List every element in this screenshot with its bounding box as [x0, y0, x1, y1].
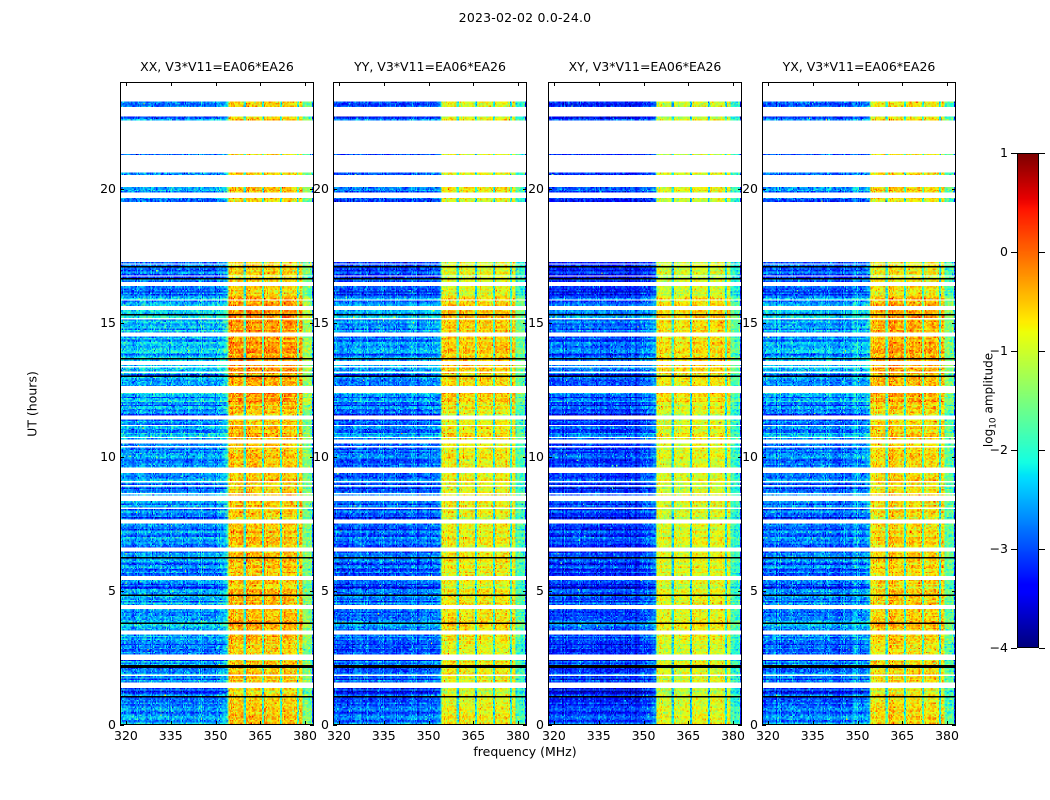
x-tick-mark-top: [947, 82, 948, 86]
y-tick-mark-right: [952, 457, 956, 458]
colorbar-tick-mark-right: [1039, 153, 1045, 154]
colorbar: [1017, 153, 1039, 648]
ylabel-host: UT (hours): [40, 0, 41, 1]
y-tick-label: 0: [82, 718, 116, 732]
x-tick-mark-top: [733, 82, 734, 86]
spectrum-image-yy: [334, 83, 526, 724]
x-tick-mark-top: [339, 82, 340, 86]
colorbar-label: log10 amplitude: [981, 353, 998, 447]
y-tick-label: 20: [724, 182, 758, 196]
y-tick-label: 10: [82, 450, 116, 464]
y-tick-mark-right: [952, 323, 956, 324]
y-tick-mark: [333, 725, 337, 726]
y-tick-mark: [333, 591, 337, 592]
x-tick-mark-top: [813, 82, 814, 86]
x-tick-mark-top: [126, 82, 127, 86]
x-tick-mark: [339, 721, 340, 725]
colorbar-tick-mark: [1011, 252, 1017, 253]
x-tick-label: 335: [793, 728, 833, 743]
x-tick-mark: [216, 721, 217, 725]
x-tick-label: 365: [453, 728, 493, 743]
y-tick-mark: [762, 591, 766, 592]
colorbar-tick-mark-right: [1039, 351, 1045, 352]
y-tick-label: 5: [724, 584, 758, 598]
x-tick-mark: [902, 721, 903, 725]
y-tick-label: 15: [510, 316, 544, 330]
y-tick-label: 15: [295, 316, 329, 330]
x-tick-mark: [473, 721, 474, 725]
x-tick-mark: [126, 721, 127, 725]
colorbar-tick-mark-right: [1039, 252, 1045, 253]
y-tick-mark: [120, 591, 124, 592]
y-tick-label: 5: [82, 584, 116, 598]
x-tick-mark: [768, 721, 769, 725]
x-tick-mark-top: [260, 82, 261, 86]
x-tick-mark: [947, 721, 948, 725]
y-tick-label: 15: [82, 316, 116, 330]
panel-title-xy: XY, V3*V11=EA06*EA26: [548, 59, 742, 77]
y-tick-mark-right: [952, 189, 956, 190]
colorbar-tick-mark: [1011, 450, 1017, 451]
colorbar-tick-mark-right: [1039, 549, 1045, 550]
x-tick-label: 335: [364, 728, 404, 743]
y-tick-mark: [548, 457, 552, 458]
x-tick-mark-top: [518, 82, 519, 86]
x-tick-mark: [644, 721, 645, 725]
y-tick-mark: [762, 189, 766, 190]
y-tick-mark: [120, 457, 124, 458]
y-tick-mark: [120, 725, 124, 726]
spectrum-panel-yx: [762, 82, 956, 725]
colorbar-label-sub: 10: [989, 417, 999, 428]
x-tick-mark: [813, 721, 814, 725]
x-axis-label: frequency (MHz): [0, 744, 1050, 759]
y-tick-mark: [762, 457, 766, 458]
y-tick-label: 20: [510, 182, 544, 196]
colorbar-tick-mark: [1011, 549, 1017, 550]
x-tick-mark: [429, 721, 430, 725]
x-tick-mark: [599, 721, 600, 725]
x-tick-label: 365: [882, 728, 922, 743]
spectrum-panel-yy: [333, 82, 527, 725]
x-tick-label: 335: [151, 728, 191, 743]
y-tick-label: 0: [295, 718, 329, 732]
y-tick-mark: [120, 323, 124, 324]
x-tick-mark: [171, 721, 172, 725]
y-tick-label: 0: [724, 718, 758, 732]
colorbar-tick-mark: [1011, 153, 1017, 154]
x-tick-mark-top: [305, 82, 306, 86]
figure-suptitle: 2023-02-02 0.0-24.0: [0, 10, 1050, 25]
y-tick-label: 20: [82, 182, 116, 196]
y-tick-label: 0: [510, 718, 544, 732]
y-tick-label: 15: [724, 316, 758, 330]
y-tick-label: 10: [510, 450, 544, 464]
colorbar-tick-mark: [1011, 351, 1017, 352]
y-tick-label: 20: [295, 182, 329, 196]
x-tick-mark-top: [768, 82, 769, 86]
x-tick-label: 350: [624, 728, 664, 743]
x-tick-mark: [554, 721, 555, 725]
x-tick-label: 365: [240, 728, 280, 743]
x-tick-label: 380: [927, 728, 967, 743]
y-tick-label: 5: [295, 584, 329, 598]
x-tick-mark: [858, 721, 859, 725]
x-tick-mark: [688, 721, 689, 725]
x-tick-label: 365: [668, 728, 708, 743]
colorbar-label-main: log: [981, 429, 995, 447]
x-tick-mark-top: [688, 82, 689, 86]
y-tick-mark: [120, 189, 124, 190]
y-tick-label: 10: [295, 450, 329, 464]
panel-title-xx: XX, V3*V11=EA06*EA26: [120, 59, 314, 77]
y-tick-mark: [548, 591, 552, 592]
y-tick-mark: [548, 323, 552, 324]
x-tick-mark-top: [429, 82, 430, 86]
y-tick-mark: [333, 457, 337, 458]
spectrum-panel-xy: [548, 82, 742, 725]
panel-title-yy: YY, V3*V11=EA06*EA26: [333, 59, 527, 77]
x-tick-mark: [260, 721, 261, 725]
x-tick-mark-top: [858, 82, 859, 86]
y-tick-mark: [548, 725, 552, 726]
colorbar-tick-label: −3: [978, 542, 1008, 556]
x-tick-mark-top: [171, 82, 172, 86]
y-tick-mark: [762, 323, 766, 324]
x-tick-mark-top: [902, 82, 903, 86]
x-tick-mark-top: [473, 82, 474, 86]
y-tick-mark: [333, 323, 337, 324]
colorbar-tick-mark-right: [1039, 450, 1045, 451]
y-tick-label: 5: [510, 584, 544, 598]
colorbar-tick-label: 1: [978, 146, 1008, 160]
y-tick-mark-right: [952, 725, 956, 726]
x-tick-label: 350: [838, 728, 878, 743]
spectrum-image-xy: [549, 83, 741, 724]
x-tick-mark: [384, 721, 385, 725]
panel-title-yx: YX, V3*V11=EA06*EA26: [762, 59, 956, 77]
x-tick-label: 350: [409, 728, 449, 743]
x-tick-label: 350: [196, 728, 236, 743]
colorbar-tick-label: −4: [978, 641, 1008, 655]
colorbar-tick-mark: [1011, 648, 1017, 649]
colorbar-tick-label: 0: [978, 245, 1008, 259]
spectrum-image-xx: [121, 83, 313, 724]
x-tick-mark-top: [644, 82, 645, 86]
y-tick-mark: [548, 189, 552, 190]
colorbar-tick-mark-right: [1039, 648, 1045, 649]
y-tick-label: 10: [724, 450, 758, 464]
colorbar-gradient: [1018, 154, 1038, 647]
y-tick-mark-right: [952, 591, 956, 592]
x-tick-label: 335: [579, 728, 619, 743]
x-tick-mark-top: [384, 82, 385, 86]
x-tick-mark-top: [599, 82, 600, 86]
x-tick-mark-top: [216, 82, 217, 86]
spectrum-panel-xx: [120, 82, 314, 725]
x-tick-mark-top: [554, 82, 555, 86]
y-tick-mark: [762, 725, 766, 726]
y-tick-mark: [333, 189, 337, 190]
colorbar-label-tail: amplitude: [981, 353, 995, 417]
y-axis-label: UT (hours): [25, 371, 40, 437]
spectrum-image-yx: [763, 83, 955, 724]
